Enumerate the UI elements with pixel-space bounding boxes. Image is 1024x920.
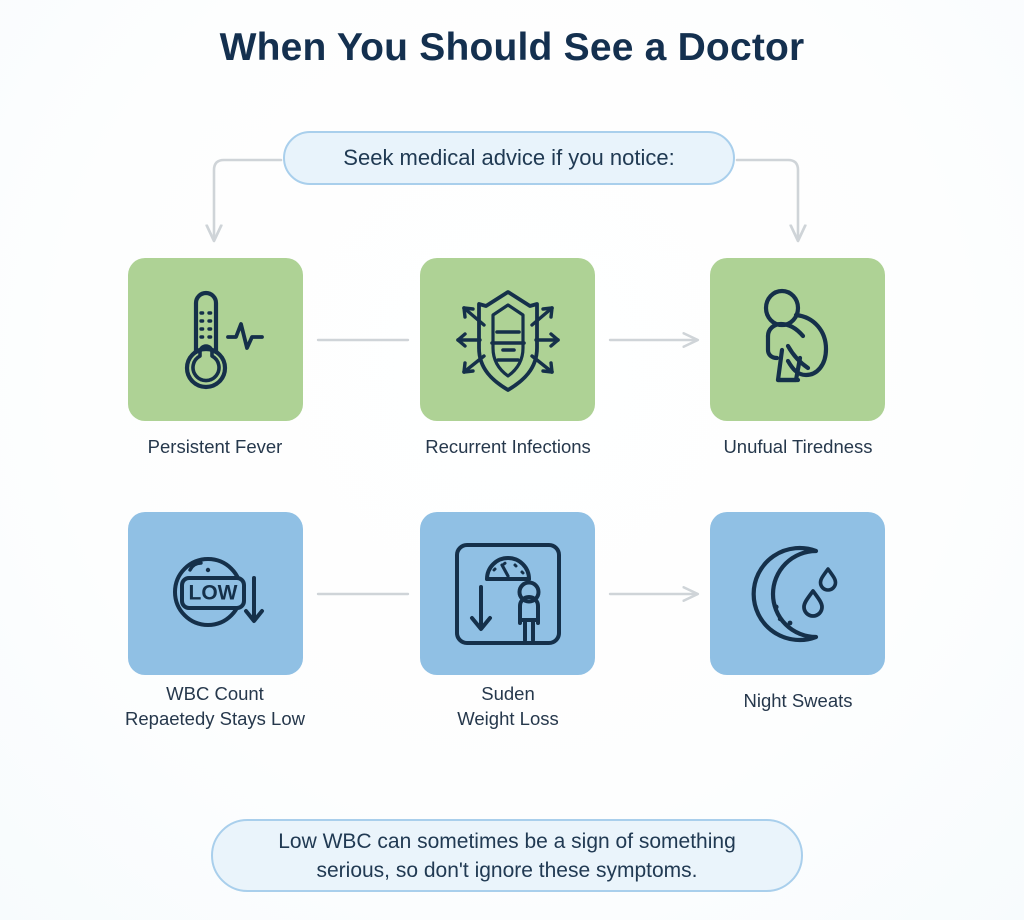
- shield-germs-icon: [446, 280, 570, 400]
- low-badge-text: LOW: [188, 581, 237, 604]
- symptom-tile-recurrent-infections[interactable]: [420, 258, 595, 421]
- caption-line-1: Persistent Fever: [148, 436, 283, 457]
- symptom-tile-unusual-tiredness[interactable]: [710, 258, 885, 421]
- thermometer-heartbeat-icon: [156, 281, 276, 399]
- footer-note-banner: Low WBC can sometimes be a sign of somet…: [211, 819, 803, 892]
- symptom-tile-persistent-fever[interactable]: [128, 258, 303, 421]
- sign-tile-night-sweats[interactable]: [710, 512, 885, 675]
- moon-sweat-drops-icon: [738, 535, 858, 653]
- caption-line-1: Suden: [481, 683, 535, 704]
- caption-recurrent-infections: Recurrent Infections: [358, 434, 658, 459]
- caption-night-sweats: Night Sweats: [648, 688, 948, 713]
- caption-line-1: Unufual Tiredness: [723, 436, 872, 457]
- sign-tile-low-wbc[interactable]: LOW: [128, 512, 303, 675]
- sign-tile-sudden-weight-loss[interactable]: [420, 512, 595, 675]
- caption-line-1: WBC Count: [166, 683, 264, 704]
- page-title: When You Should See a Doctor: [0, 26, 1024, 70]
- caption-unusual-tiredness: Unufual Tiredness: [648, 434, 948, 459]
- callout-bubble: Seek medical advice if you notice:: [283, 131, 735, 185]
- callout-text: Seek medical advice if you notice:: [343, 145, 674, 171]
- connector-bubble-to-third-tile: [737, 160, 798, 240]
- footer-line-2: serious, so don't ignore these symptoms.: [316, 856, 697, 885]
- tired-person-icon: [738, 280, 858, 400]
- caption-line-1: Recurrent Infections: [425, 436, 591, 457]
- footer-line-1: Low WBC can sometimes be a sign of somet…: [278, 827, 736, 856]
- low-blood-cell-icon: LOW: [154, 534, 278, 654]
- caption-sudden-weight-loss: Suden Weight Loss: [358, 681, 658, 731]
- caption-low-wbc: WBC Count Repaetedy Stays Low: [65, 681, 365, 731]
- connector-bubble-to-first-tile: [214, 160, 281, 240]
- caption-line-2: Weight Loss: [358, 706, 658, 731]
- caption-line-1: Night Sweats: [744, 690, 853, 711]
- infographic-stage: When You Should See a Doctor Seek medica…: [0, 0, 1024, 920]
- weight-scale-down-icon: [449, 535, 567, 653]
- caption-line-2: Repaetedy Stays Low: [65, 706, 365, 731]
- caption-persistent-fever: Persistent Fever: [65, 434, 365, 459]
